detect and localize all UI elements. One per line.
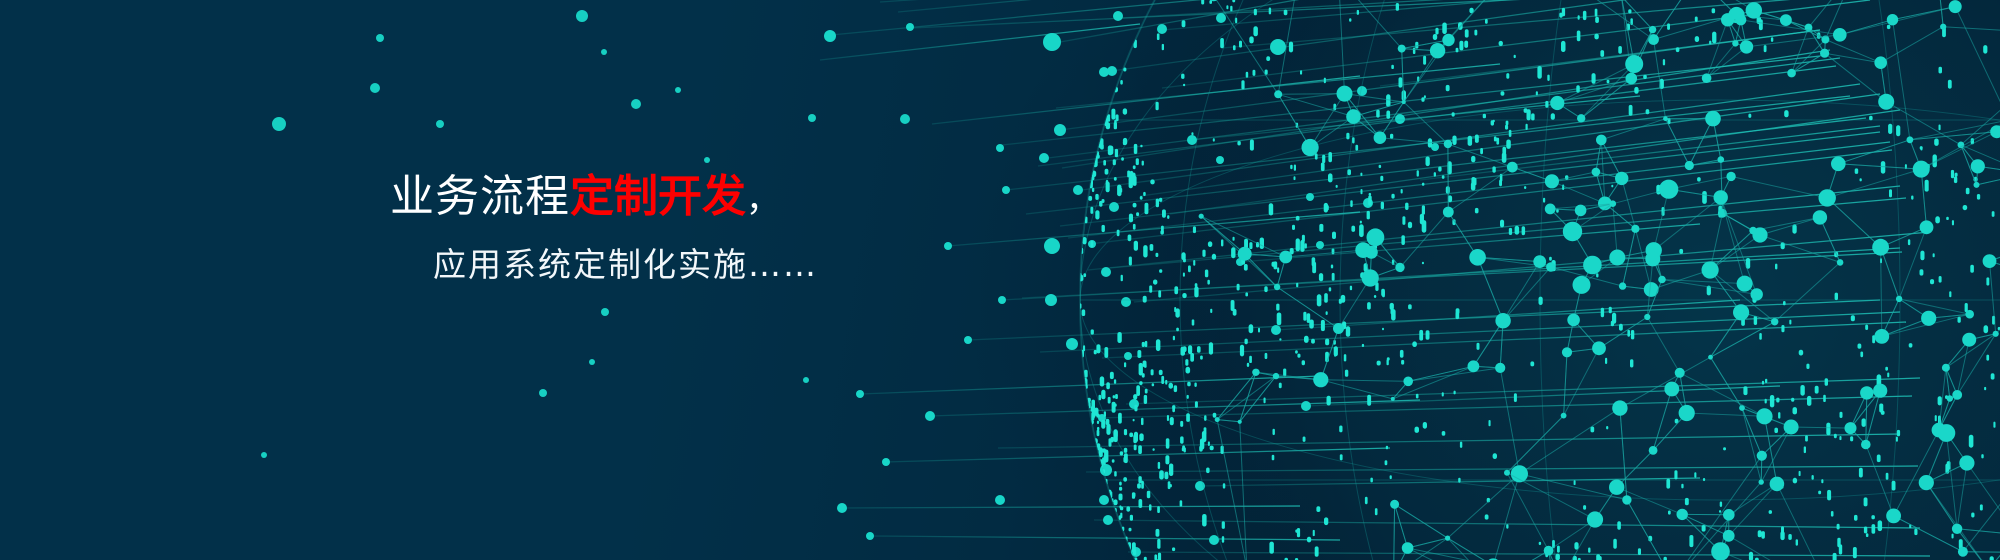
- hero-banner: 业务流程定制开发， 应用系统定制化实施……: [0, 0, 2000, 560]
- network-globe-graphic: [0, 0, 2000, 560]
- ambient-dots: [261, 10, 910, 458]
